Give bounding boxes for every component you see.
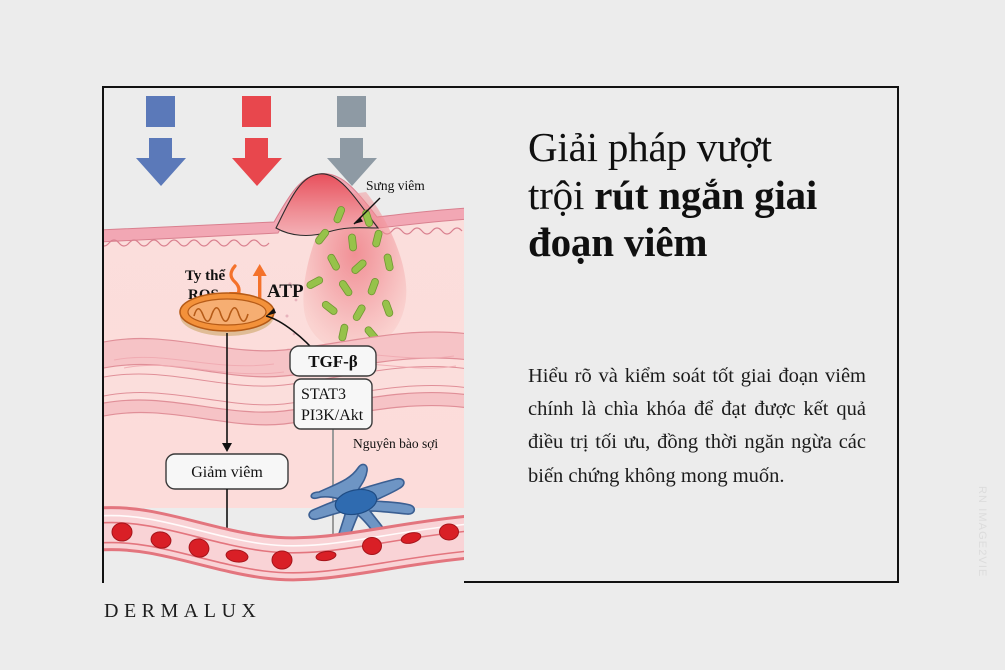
box-tgf-beta-label: TGF-β	[308, 352, 358, 371]
skin-inflammation-diagram: Sưng viêm Ty thể ROS ATP	[104, 88, 464, 583]
label-mitochondria: Ty thể	[185, 268, 225, 284]
headline-line2-bold: rút ngắn giai	[594, 172, 817, 218]
headline-line2-regular: trội	[528, 172, 594, 218]
box-reduce-inflammation-label: Giảm viêm	[191, 464, 263, 481]
body-paragraph: Hiểu rõ và kiểm soát tốt giai đoạn viêm …	[528, 360, 866, 493]
headline-block: Giải pháp vượt trội rút ngắn giai đoạn v…	[528, 124, 880, 267]
headline: Giải pháp vượt trội rút ngắn giai đoạn v…	[528, 124, 880, 267]
dermalux-logo: DERMALUX	[104, 600, 261, 623]
stimulus-square-red	[242, 96, 271, 127]
content-frame: Sưng viêm Ty thể ROS ATP	[102, 86, 899, 583]
label-swelling: Sưng viêm	[366, 178, 425, 193]
box-pi3k-label: PI3K/Akt	[301, 407, 364, 424]
box-stat3-label: STAT3	[301, 386, 346, 403]
mitochondrion	[180, 293, 274, 336]
watermark-text: RN IMAGE2VIE	[976, 486, 988, 616]
box-reduce-inflammation: Giảm viêm	[166, 454, 288, 489]
label-atp: ATP	[267, 281, 304, 302]
headline-line1: Giải pháp vượt	[528, 124, 772, 170]
stimulus-square-blue	[146, 96, 175, 127]
stimulus-square-gray	[337, 96, 366, 127]
poster-root: Sưng viêm Ty thể ROS ATP	[0, 0, 1005, 670]
label-fibroblast: Nguyên bào sợi	[353, 436, 438, 451]
headline-line3-bold: đoạn viêm	[528, 219, 707, 265]
box-tgf-beta: TGF-β	[290, 346, 376, 376]
box-stat3-pi3k: STAT3 PI3K/Akt	[294, 379, 372, 429]
